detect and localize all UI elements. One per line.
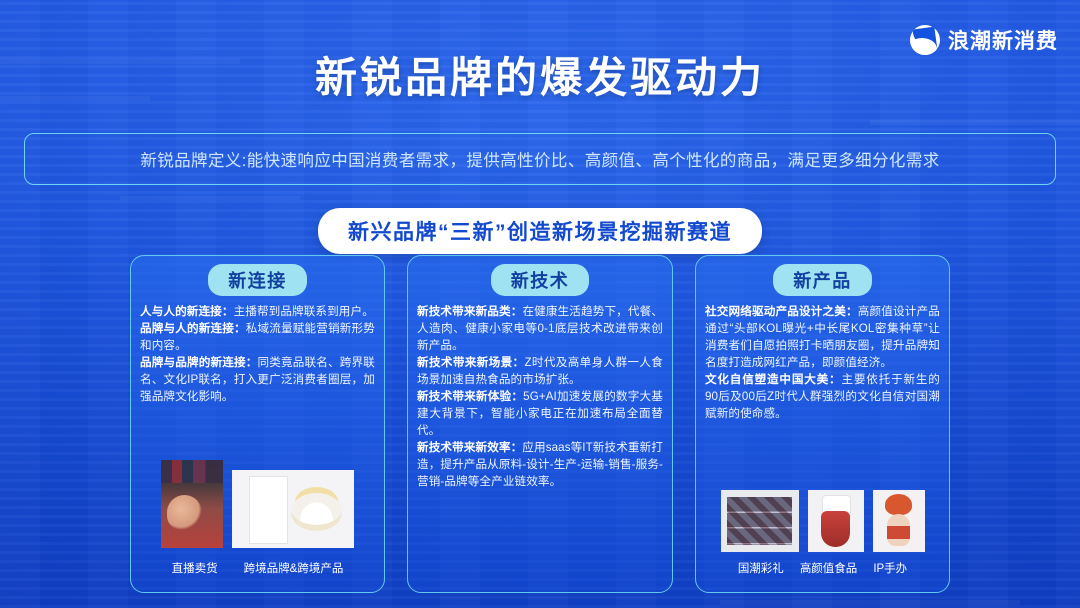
card-paragraph: 新技术带来新品类：在健康生活趋势下，代餐、人造肉、健康小家电等0-1底层技术改进… (417, 303, 663, 354)
card-paragraph: 品牌与品牌的新连接：同类竟品联名、跨界联名、文化IP联名，打入更广泛消费者圈层，… (140, 354, 375, 405)
card-paragraph: 品牌与人的新连接：私域流量赋能营销新形势和内容。 (140, 320, 375, 354)
card-badge: 新技术 (491, 264, 590, 296)
thumbnail-caption: 直播卖货 (172, 560, 218, 576)
bg-streak (720, 600, 1020, 605)
paragraph-lead: 新技术带来新品类： (417, 305, 522, 318)
bg-streak (870, 120, 1080, 125)
bg-streak (120, 196, 300, 200)
card-badge: 新产品 (773, 264, 872, 296)
thumbnail-caption: 国潮彩礼 (738, 560, 784, 576)
card-body: 社交网络驱动产品设计之美：高颜值设计产品通过“头部KOL曝光+中长尾KOL密集种… (705, 303, 940, 422)
paragraph-lead: 人与人的新连接： (140, 305, 234, 318)
paragraph-lead: 新技术带来新效率： (417, 441, 522, 454)
card-body: 新技术带来新品类：在健康生活趋势下，代餐、人造肉、健康小家电等0-1底层技术改进… (417, 303, 663, 490)
card-thumbnails (131, 460, 384, 548)
paragraph-lead: 品牌与人的新连接： (140, 322, 246, 335)
card-paragraph: 新技术带来新场景：Z时代及高单身人群一人食场景加速自热食品的市场扩张。 (417, 354, 663, 388)
paragraph-lead: 社交网络驱动产品设计之美： (705, 305, 858, 318)
card-paragraph: 文化自信塑造中国大美：主要依托于新生的90后及00后Z时代人群强烈的文化自信对国… (705, 371, 940, 422)
card-paragraph: 新技术带来新体验：5G+AI加速发展的数字大基建大背景下，智能小家电正在加速布局… (417, 388, 663, 439)
high-appearance-drink-photo (808, 490, 864, 552)
card-paragraph: 新技术带来新效率：应用saas等IT新技术重新打造，提升产品从原料-设计-生产-… (417, 439, 663, 490)
paragraph-lead: 新技术带来新场景： (417, 356, 524, 369)
card-new-product: 新产品 社交网络驱动产品设计之美：高颜值设计产品通过“头部KOL曝光+中长尾KO… (695, 255, 950, 593)
paragraph-lead: 品牌与品牌的新连接： (140, 356, 258, 369)
cross-border-product-photo (232, 470, 354, 548)
card-badge: 新连接 (208, 264, 307, 296)
card-new-technology: 新技术 新技术带来新品类：在健康生活趋势下，代餐、人造肉、健康小家电等0-1底层… (407, 255, 673, 593)
thumbnail-caption: 高颜值食品 (800, 560, 858, 576)
card-thumbnails (696, 490, 949, 552)
paragraph-lead: 文化自信塑造中国大美： (705, 373, 841, 386)
page-title: 新锐品牌的爆发驱动力 (0, 44, 1080, 105)
card-captions: 国潮彩礼 高颜值食品 IP手办 (696, 560, 949, 576)
card-new-connection: 新连接 人与人的新连接：主播帮到品牌联系到用户。 品牌与人的新连接：私域流量赋能… (130, 255, 385, 593)
paragraph-lead: 新技术带来新体验： (417, 390, 523, 403)
cards-row: 新连接 人与人的新连接：主播帮到品牌联系到用户。 品牌与人的新连接：私域流量赋能… (0, 255, 1080, 595)
card-paragraph: 人与人的新连接：主播帮到品牌联系到用户。 (140, 303, 375, 320)
badge-wrap: 新连接 (140, 264, 375, 296)
definition-text: 新锐品牌定义:能快速响应中国消费者需求，提供高性价比、高颜值、高个性化的商品，满… (140, 147, 939, 171)
badge-wrap: 新技术 (417, 264, 663, 296)
guochao-gift-box-photo (721, 490, 799, 552)
card-paragraph: 社交网络驱动产品设计之美：高颜值设计产品通过“头部KOL曝光+中长尾KOL密集种… (705, 303, 940, 371)
ip-figure-doll-photo (873, 490, 925, 552)
paragraph-text: 主播帮到品牌联系到用户。 (234, 305, 374, 318)
subtitle-pill: 新兴品牌“三新”创造新场景挖掘新赛道 (318, 208, 762, 254)
card-captions: 直播卖货 跨境品牌&跨境产品 (131, 560, 384, 576)
livestream-selling-photo (161, 460, 223, 548)
thumbnail-caption: 跨境品牌&跨境产品 (244, 560, 344, 576)
badge-wrap: 新产品 (705, 264, 940, 296)
subtitle-pill-wrap: 新兴品牌“三新”创造新场景挖掘新赛道 (0, 208, 1080, 254)
thumbnail-caption: IP手办 (873, 560, 907, 576)
definition-banner: 新锐品牌定义:能快速响应中国消费者需求，提供高性价比、高颜值、高个性化的商品，满… (24, 133, 1056, 185)
card-body: 人与人的新连接：主播帮到品牌联系到用户。 品牌与人的新连接：私域流量赋能营销新形… (140, 303, 375, 405)
slide-root: 浪潮新消费 新锐品牌的爆发驱动力 新锐品牌定义:能快速响应中国消费者需求，提供高… (0, 0, 1080, 608)
